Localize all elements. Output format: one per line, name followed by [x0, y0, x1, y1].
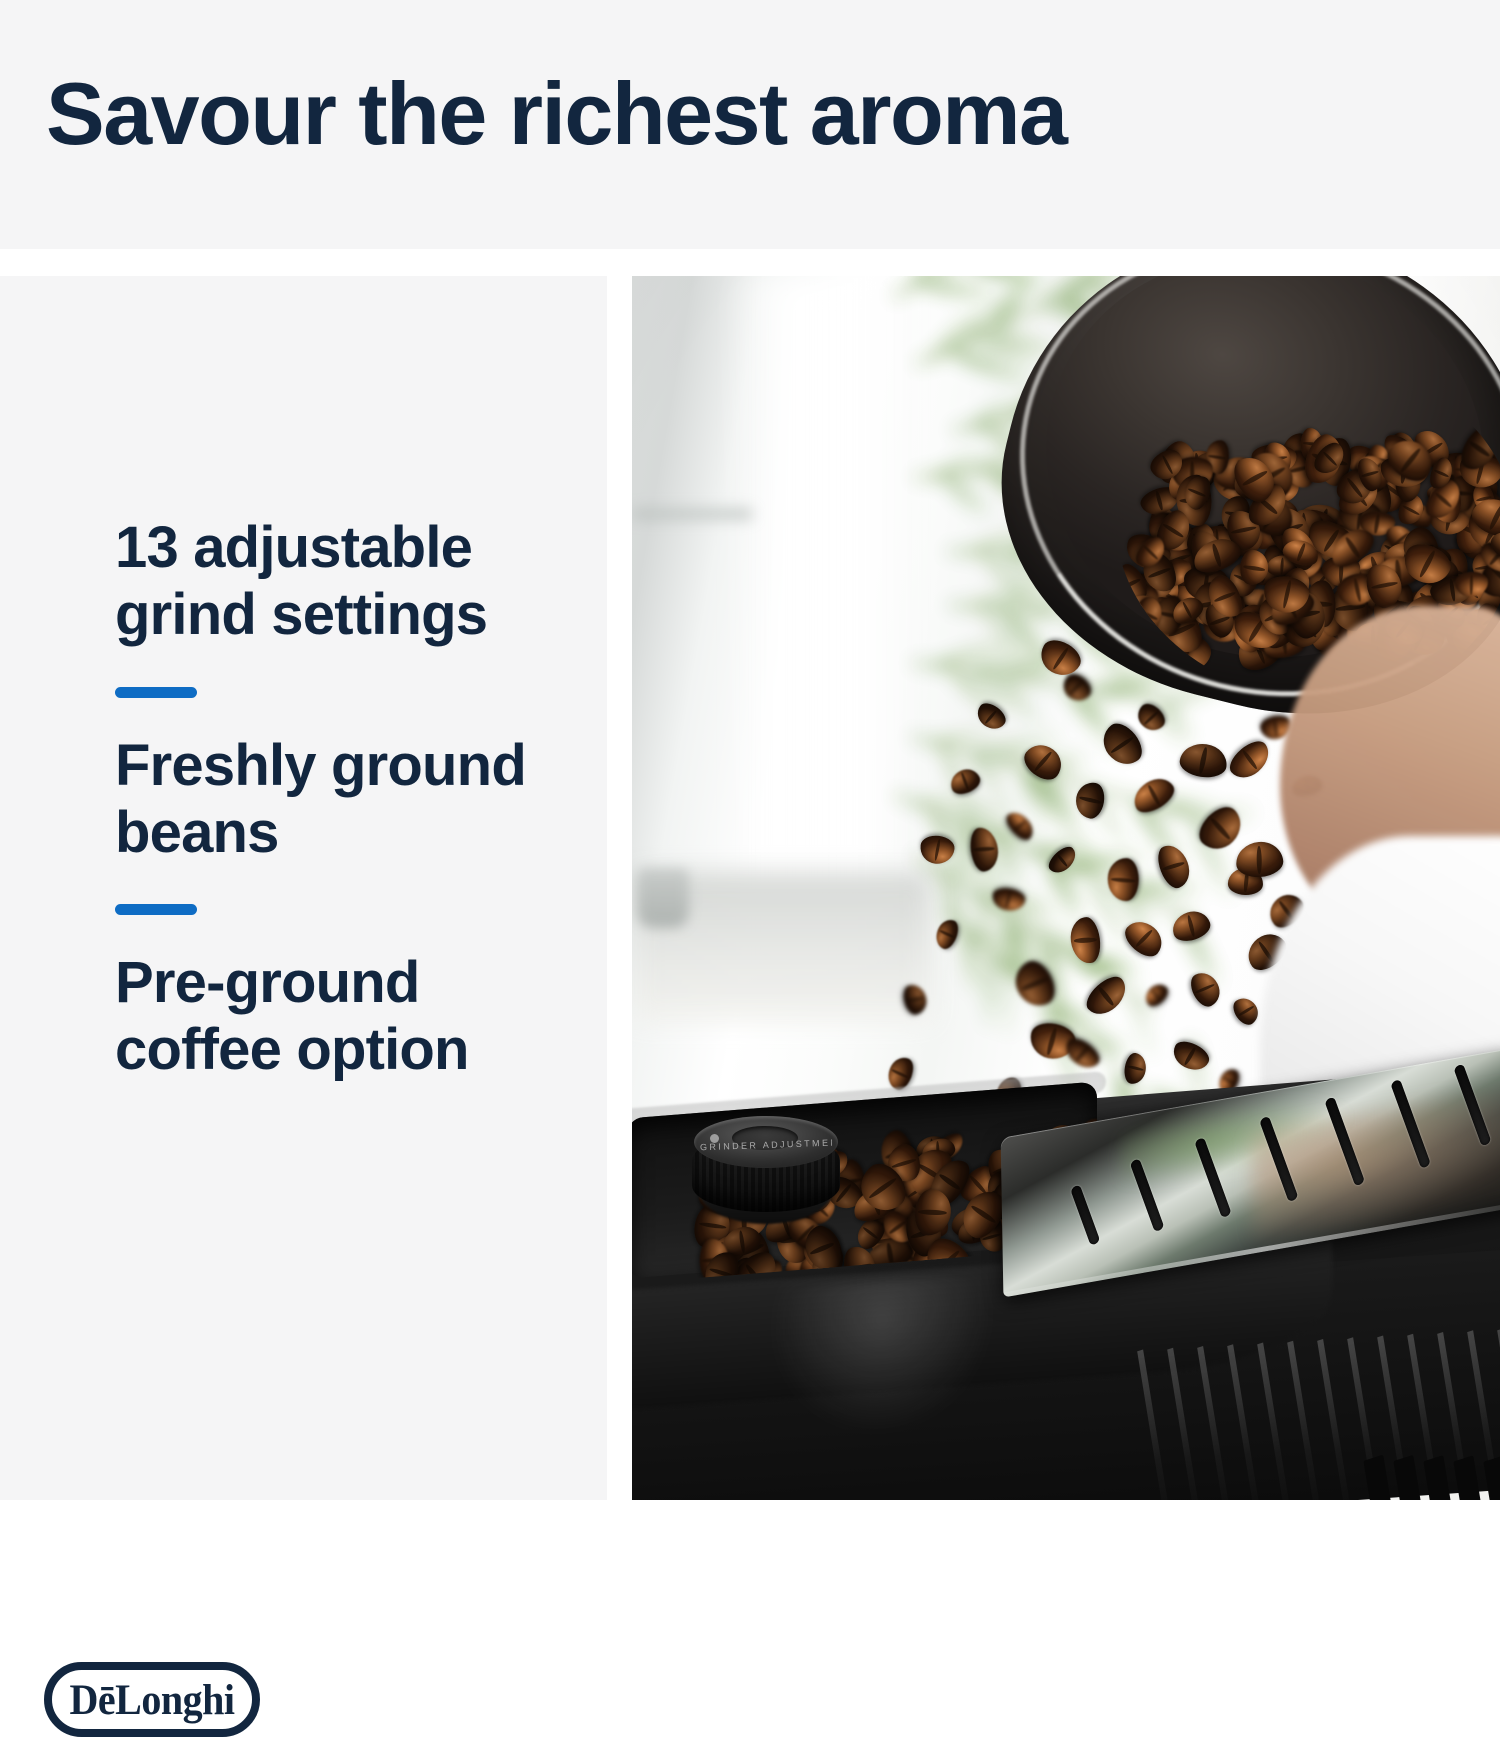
espresso-machine: GRINDER ADJUSTMENT	[632, 950, 1500, 1500]
coffee-bean	[990, 885, 1027, 913]
machine-highlight	[752, 1271, 1012, 1489]
feature-divider-2	[115, 904, 197, 915]
lid-slot	[1259, 1116, 1298, 1203]
drip-tray-slat	[1197, 1346, 1233, 1500]
coffee-bean	[947, 765, 984, 798]
coffee-bean	[968, 826, 1001, 874]
page-title: Savour the richest aroma	[46, 68, 1066, 160]
feature-item-3: Pre-ground coffee option	[115, 949, 585, 1084]
drip-tray-slat	[1167, 1348, 1203, 1500]
drip-tray-gap	[1453, 1455, 1482, 1500]
feature-divider-1	[115, 687, 197, 698]
coffee-bean	[1073, 780, 1107, 820]
drip-tray-slat	[1137, 1350, 1173, 1500]
drip-tray-gap	[1363, 1455, 1392, 1500]
coffee-bean	[1095, 717, 1148, 772]
lid-slot	[1324, 1096, 1365, 1187]
coffee-bean	[1235, 840, 1285, 879]
coffee-bean	[1153, 841, 1195, 892]
coffee-bean	[918, 834, 955, 866]
coffee-bean	[1108, 858, 1140, 901]
coffee-bean	[1128, 772, 1180, 819]
lid-slot	[1194, 1137, 1231, 1219]
feature-item-1: 13 adjustable grind settings	[115, 514, 585, 649]
product-photo: GRINDER ADJUSTMENT	[632, 276, 1500, 1500]
feature-item-2: Freshly ground beans	[115, 732, 585, 867]
coffee-bean	[932, 916, 961, 951]
drip-tray-slat	[1257, 1343, 1293, 1500]
grinder-adjustment-knob[interactable]: GRINDER ADJUSTMENT	[692, 1116, 840, 1236]
coffee-bean	[1178, 741, 1229, 780]
delonghi-logo: DēLonghi	[44, 1662, 260, 1737]
lid-slot	[1070, 1184, 1100, 1246]
coffee-bean	[973, 699, 1010, 734]
coffee-bean	[1019, 738, 1068, 786]
drip-tray-gap	[1393, 1455, 1422, 1500]
delonghi-logo-text: DēLonghi	[70, 1678, 235, 1721]
drip-tray-slat	[1317, 1339, 1353, 1500]
product-feature-page: Savour the richest aroma 13 adjustable g…	[0, 0, 1500, 1500]
feature-panel: 13 adjustable grind settings Freshly gro…	[0, 276, 607, 1500]
coffee-bean	[1192, 800, 1249, 857]
lid-slot	[1390, 1079, 1431, 1170]
coffee-bean	[1045, 843, 1081, 878]
coffee-bean	[1169, 907, 1214, 945]
feature-label: Pre-ground coffee option	[115, 949, 585, 1084]
lid-slot	[1130, 1158, 1165, 1232]
drip-tray-gap	[1423, 1455, 1452, 1500]
feature-list: 13 adjustable grind settings Freshly gro…	[115, 514, 585, 1084]
feature-label: 13 adjustable grind settings	[115, 514, 585, 649]
drip-tray-gap	[1483, 1456, 1500, 1500]
drip-tray-slat	[1287, 1341, 1323, 1500]
feature-label: Freshly ground beans	[115, 732, 585, 867]
drip-tray-slat	[1227, 1344, 1263, 1500]
header-band: Savour the richest aroma	[0, 0, 1500, 249]
lid-slot	[1453, 1063, 1491, 1146]
coffee-bean	[1002, 807, 1038, 843]
